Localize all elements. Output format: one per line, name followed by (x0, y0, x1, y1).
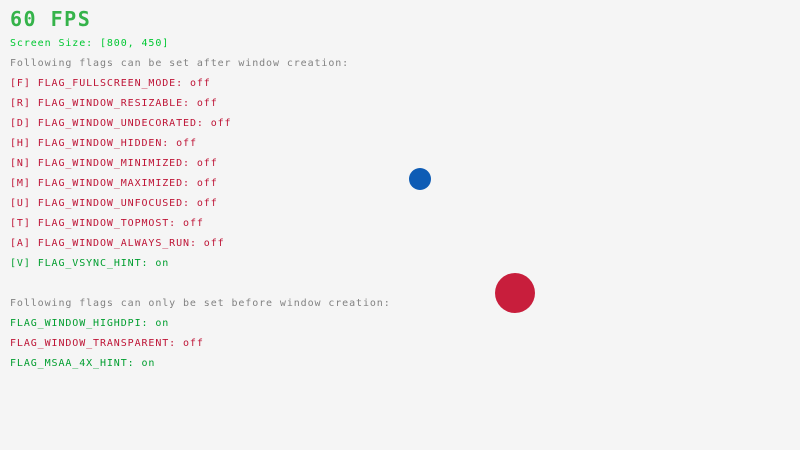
flag-shortcut-key: [T] (10, 218, 38, 229)
flag-name: FLAG_WINDOW_UNDECORATED: (38, 118, 211, 129)
flag-row-flag-window-maximized[interactable]: [M] FLAG_WINDOW_MAXIMIZED: off (10, 178, 218, 190)
small-blue-ball (409, 168, 431, 190)
flag-name: FLAG_MSAA_4X_HINT: (10, 358, 142, 369)
screen-size-label: Screen Size: [800, 450] (10, 38, 169, 50)
flag-row-flag-window-minimized[interactable]: [N] FLAG_WINDOW_MINIMIZED: off (10, 158, 218, 170)
flag-value: off (211, 118, 232, 129)
flag-row-flag-fullscreen-mode[interactable]: [F] FLAG_FULLSCREEN_MODE: off (10, 78, 211, 90)
flag-shortcut-key: [D] (10, 118, 38, 129)
flag-value: off (176, 138, 197, 149)
flag-name: FLAG_FULLSCREEN_MODE: (38, 78, 190, 89)
flag-row-flag-window-resizable[interactable]: [R] FLAG_WINDOW_RESIZABLE: off (10, 98, 218, 110)
flag-row-flag-window-highdpi: FLAG_WINDOW_HIGHDPI: on (10, 318, 169, 330)
flag-row-flag-window-topmost[interactable]: [T] FLAG_WINDOW_TOPMOST: off (10, 218, 204, 230)
raylib-window-canvas[interactable]: 60 FPS Screen Size: [800, 450] Following… (0, 0, 800, 450)
heading-flags-after-creation: Following flags can be set after window … (10, 58, 349, 70)
flag-shortcut-key: [R] (10, 98, 38, 109)
flag-value: off (183, 338, 204, 349)
flag-row-flag-window-undecorated[interactable]: [D] FLAG_WINDOW_UNDECORATED: off (10, 118, 231, 130)
flag-value: on (155, 258, 169, 269)
heading-flags-before-creation: Following flags can only be set before w… (10, 298, 391, 310)
flag-value: off (183, 218, 204, 229)
flag-value: on (155, 318, 169, 329)
flag-name: FLAG_WINDOW_HIGHDPI: (10, 318, 155, 329)
flag-row-flag-window-unfocused[interactable]: [U] FLAG_WINDOW_UNFOCUSED: off (10, 198, 218, 210)
flag-name: FLAG_VSYNC_HINT: (38, 258, 156, 269)
flag-shortcut-key: [F] (10, 78, 38, 89)
flag-value: off (204, 238, 225, 249)
flag-row-flag-window-transparent: FLAG_WINDOW_TRANSPARENT: off (10, 338, 204, 350)
flag-shortcut-key: [A] (10, 238, 38, 249)
flag-row-flag-msaa-4x-hint: FLAG_MSAA_4X_HINT: on (10, 358, 155, 370)
flag-row-flag-window-hidden[interactable]: [H] FLAG_WINDOW_HIDDEN: off (10, 138, 197, 150)
flag-value: off (190, 78, 211, 89)
flag-name: FLAG_WINDOW_TRANSPARENT: (10, 338, 183, 349)
flag-shortcut-key: [H] (10, 138, 38, 149)
flag-shortcut-key: [M] (10, 178, 38, 189)
flag-name: FLAG_WINDOW_RESIZABLE: (38, 98, 197, 109)
flag-name: FLAG_WINDOW_ALWAYS_RUN: (38, 238, 204, 249)
flag-value: off (197, 198, 218, 209)
flag-row-flag-window-always-run[interactable]: [A] FLAG_WINDOW_ALWAYS_RUN: off (10, 238, 225, 250)
flag-name: FLAG_WINDOW_UNFOCUSED: (38, 198, 197, 209)
flag-name: FLAG_WINDOW_MINIMIZED: (38, 158, 197, 169)
flag-name: FLAG_WINDOW_MAXIMIZED: (38, 178, 197, 189)
flag-value: off (197, 178, 218, 189)
fps-counter: 60 FPS (10, 8, 91, 30)
flag-value: off (197, 158, 218, 169)
flag-value: off (197, 98, 218, 109)
flag-shortcut-key: [V] (10, 258, 38, 269)
flag-value: on (142, 358, 156, 369)
flag-shortcut-key: [U] (10, 198, 38, 209)
flag-name: FLAG_WINDOW_TOPMOST: (38, 218, 183, 229)
flag-shortcut-key: [N] (10, 158, 38, 169)
flag-row-flag-vsync-hint[interactable]: [V] FLAG_VSYNC_HINT: on (10, 258, 169, 270)
large-red-ball (495, 273, 535, 313)
flag-name: FLAG_WINDOW_HIDDEN: (38, 138, 176, 149)
